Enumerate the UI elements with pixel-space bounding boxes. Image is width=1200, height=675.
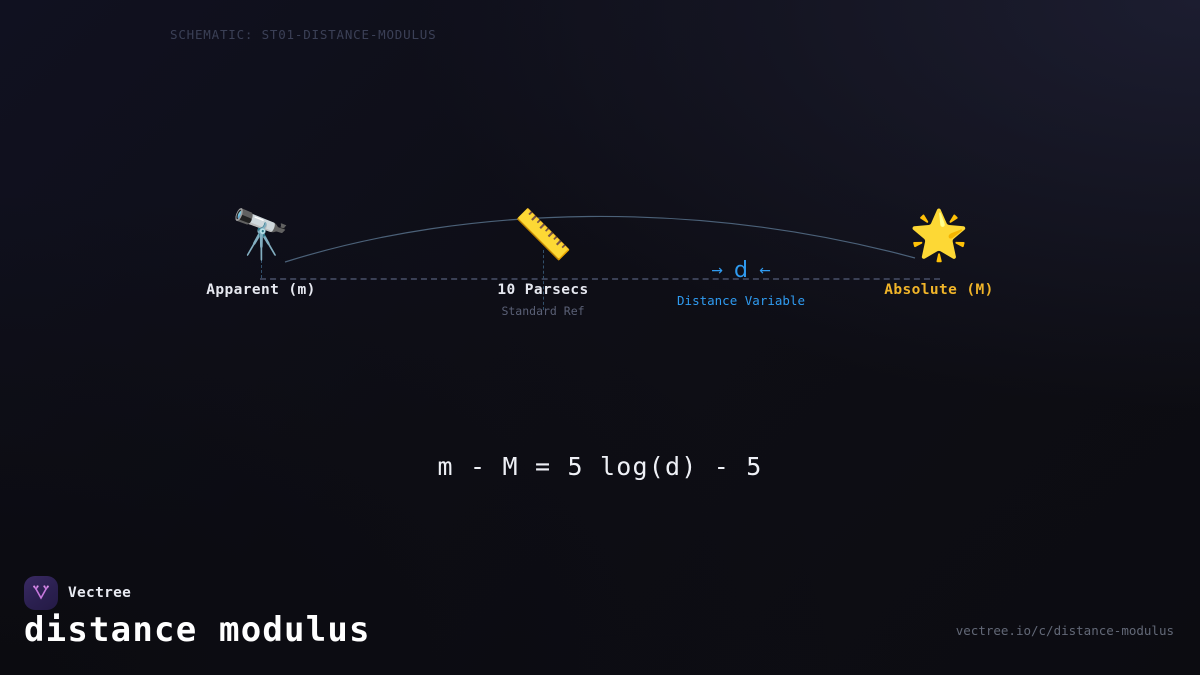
footer-url: vectree.io/c/distance-modulus <box>956 623 1174 638</box>
schematic-id-label: SCHEMATIC: ST01-DISTANCE-MODULUS <box>170 27 436 42</box>
vectree-logo-icon <box>24 576 58 610</box>
distance-variable-marker: → d ← Distance Variable <box>591 258 891 308</box>
arrow-right-icon: → <box>705 263 729 279</box>
distance-modulus-diagram: 🔭 Apparent (m) 📏 10 Parsecs Standard Ref… <box>0 150 1200 380</box>
brand-name: Vectree <box>68 585 131 601</box>
arrow-left-icon: ← <box>753 263 777 279</box>
glowing-star-icon: 🌟 <box>829 206 1049 264</box>
distance-symbol: d <box>734 258 748 283</box>
straight-ruler-icon: 📏 <box>433 206 653 264</box>
diagram-node-apparent[interactable]: 🔭 Apparent (m) <box>151 206 371 298</box>
schematic-canvas: SCHEMATIC: ST01-DISTANCE-MODULUS 🔭 Appar… <box>0 0 1200 675</box>
telescope-icon: 🔭 <box>151 206 371 264</box>
distance-variable-row: → d ← <box>591 258 891 283</box>
formula-expression: m - M = 5 log(d) - 5 <box>0 452 1200 481</box>
page-title: distance modulus <box>24 610 371 650</box>
brand-block: Vectree <box>24 576 131 610</box>
node-label-apparent: Apparent (m) <box>151 282 371 298</box>
distance-variable-label: Distance Variable <box>591 293 891 308</box>
